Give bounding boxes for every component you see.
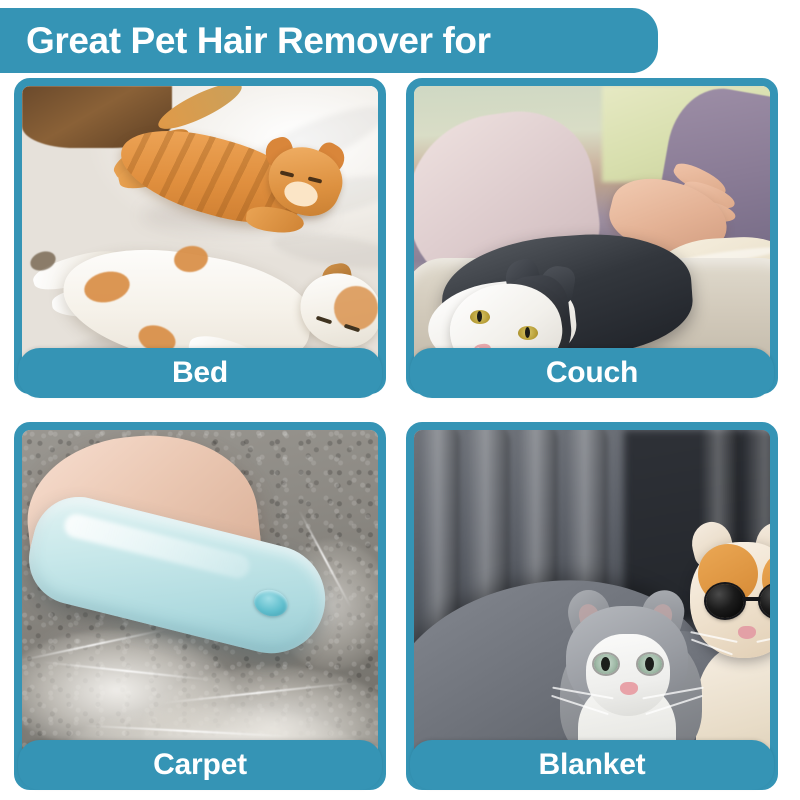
panel-carpet[interactable] bbox=[14, 422, 386, 790]
page-title: Great Pet Hair Remover for bbox=[26, 22, 491, 59]
caption-carpet[interactable]: Carpet bbox=[18, 740, 382, 790]
panel-blanket[interactable] bbox=[406, 422, 778, 790]
tuxedo-cat-pupil bbox=[525, 327, 530, 338]
sunglasses-lens-left bbox=[706, 584, 744, 618]
sunglasses bbox=[706, 584, 770, 618]
gray-kitten-pupil bbox=[601, 657, 610, 671]
header-banner: Great Pet Hair Remover for bbox=[0, 8, 658, 73]
photo-blanket bbox=[414, 430, 770, 782]
gray-kitten-face bbox=[586, 634, 670, 716]
sunglasses-lens-right bbox=[760, 584, 770, 618]
caption-couch-label: Couch bbox=[546, 358, 638, 388]
caption-bed-label: Bed bbox=[172, 358, 228, 388]
caption-blanket[interactable]: Blanket bbox=[410, 740, 774, 790]
panel-grid bbox=[0, 0, 800, 800]
panel-couch[interactable] bbox=[406, 78, 778, 394]
photo-bed bbox=[22, 86, 378, 386]
caption-blanket-label: Blanket bbox=[539, 750, 646, 780]
caption-carpet-label: Carpet bbox=[153, 750, 247, 780]
caption-couch[interactable]: Couch bbox=[410, 348, 774, 398]
tuxedo-cat-pupil bbox=[477, 311, 482, 322]
gray-kitten-pupil bbox=[645, 657, 654, 671]
panel-bed[interactable] bbox=[14, 78, 386, 394]
orange-cat-nose bbox=[738, 626, 756, 639]
gray-kitten-nose bbox=[620, 682, 638, 695]
white-kitten-head-patch bbox=[334, 286, 378, 330]
product-collage: Bed Couch Carpet Blanket Great Pet Hair … bbox=[0, 0, 800, 800]
photo-carpet bbox=[22, 430, 378, 782]
photo-couch bbox=[414, 86, 770, 386]
caption-bed[interactable]: Bed bbox=[18, 348, 382, 398]
